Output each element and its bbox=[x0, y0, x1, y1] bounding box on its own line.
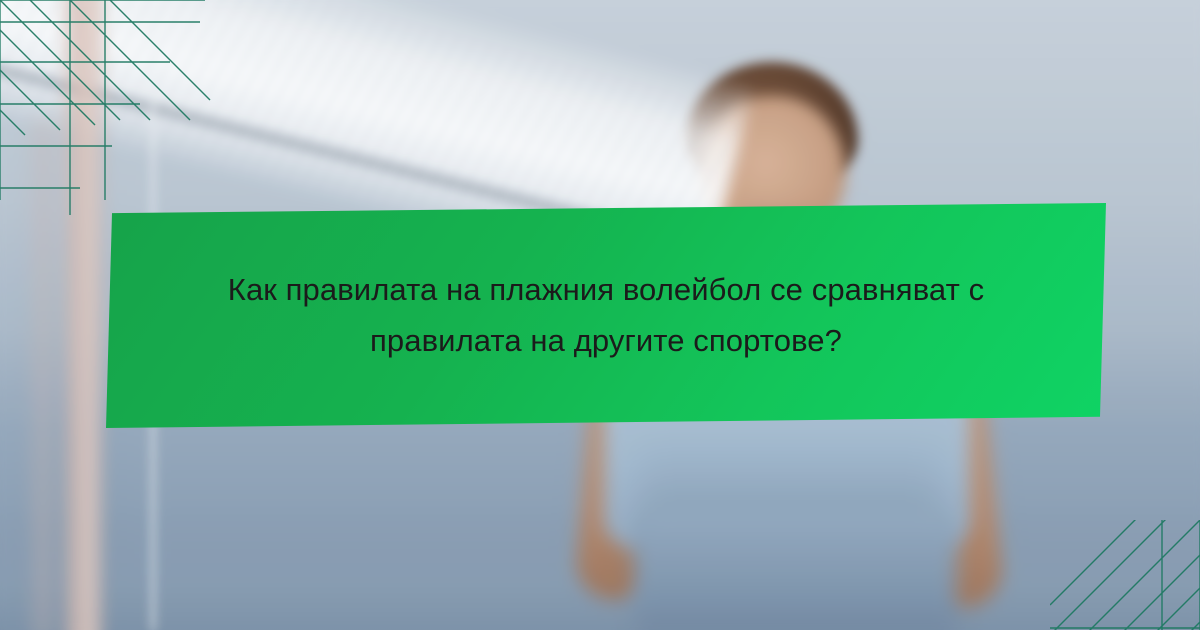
question-text: Как правилата на плажния волейбол се сра… bbox=[166, 265, 1046, 365]
screenshot-canvas: Как правилата на плажния волейбол се сра… bbox=[0, 0, 1200, 630]
question-banner: Как правилата на плажния волейбол се сра… bbox=[106, 203, 1106, 428]
